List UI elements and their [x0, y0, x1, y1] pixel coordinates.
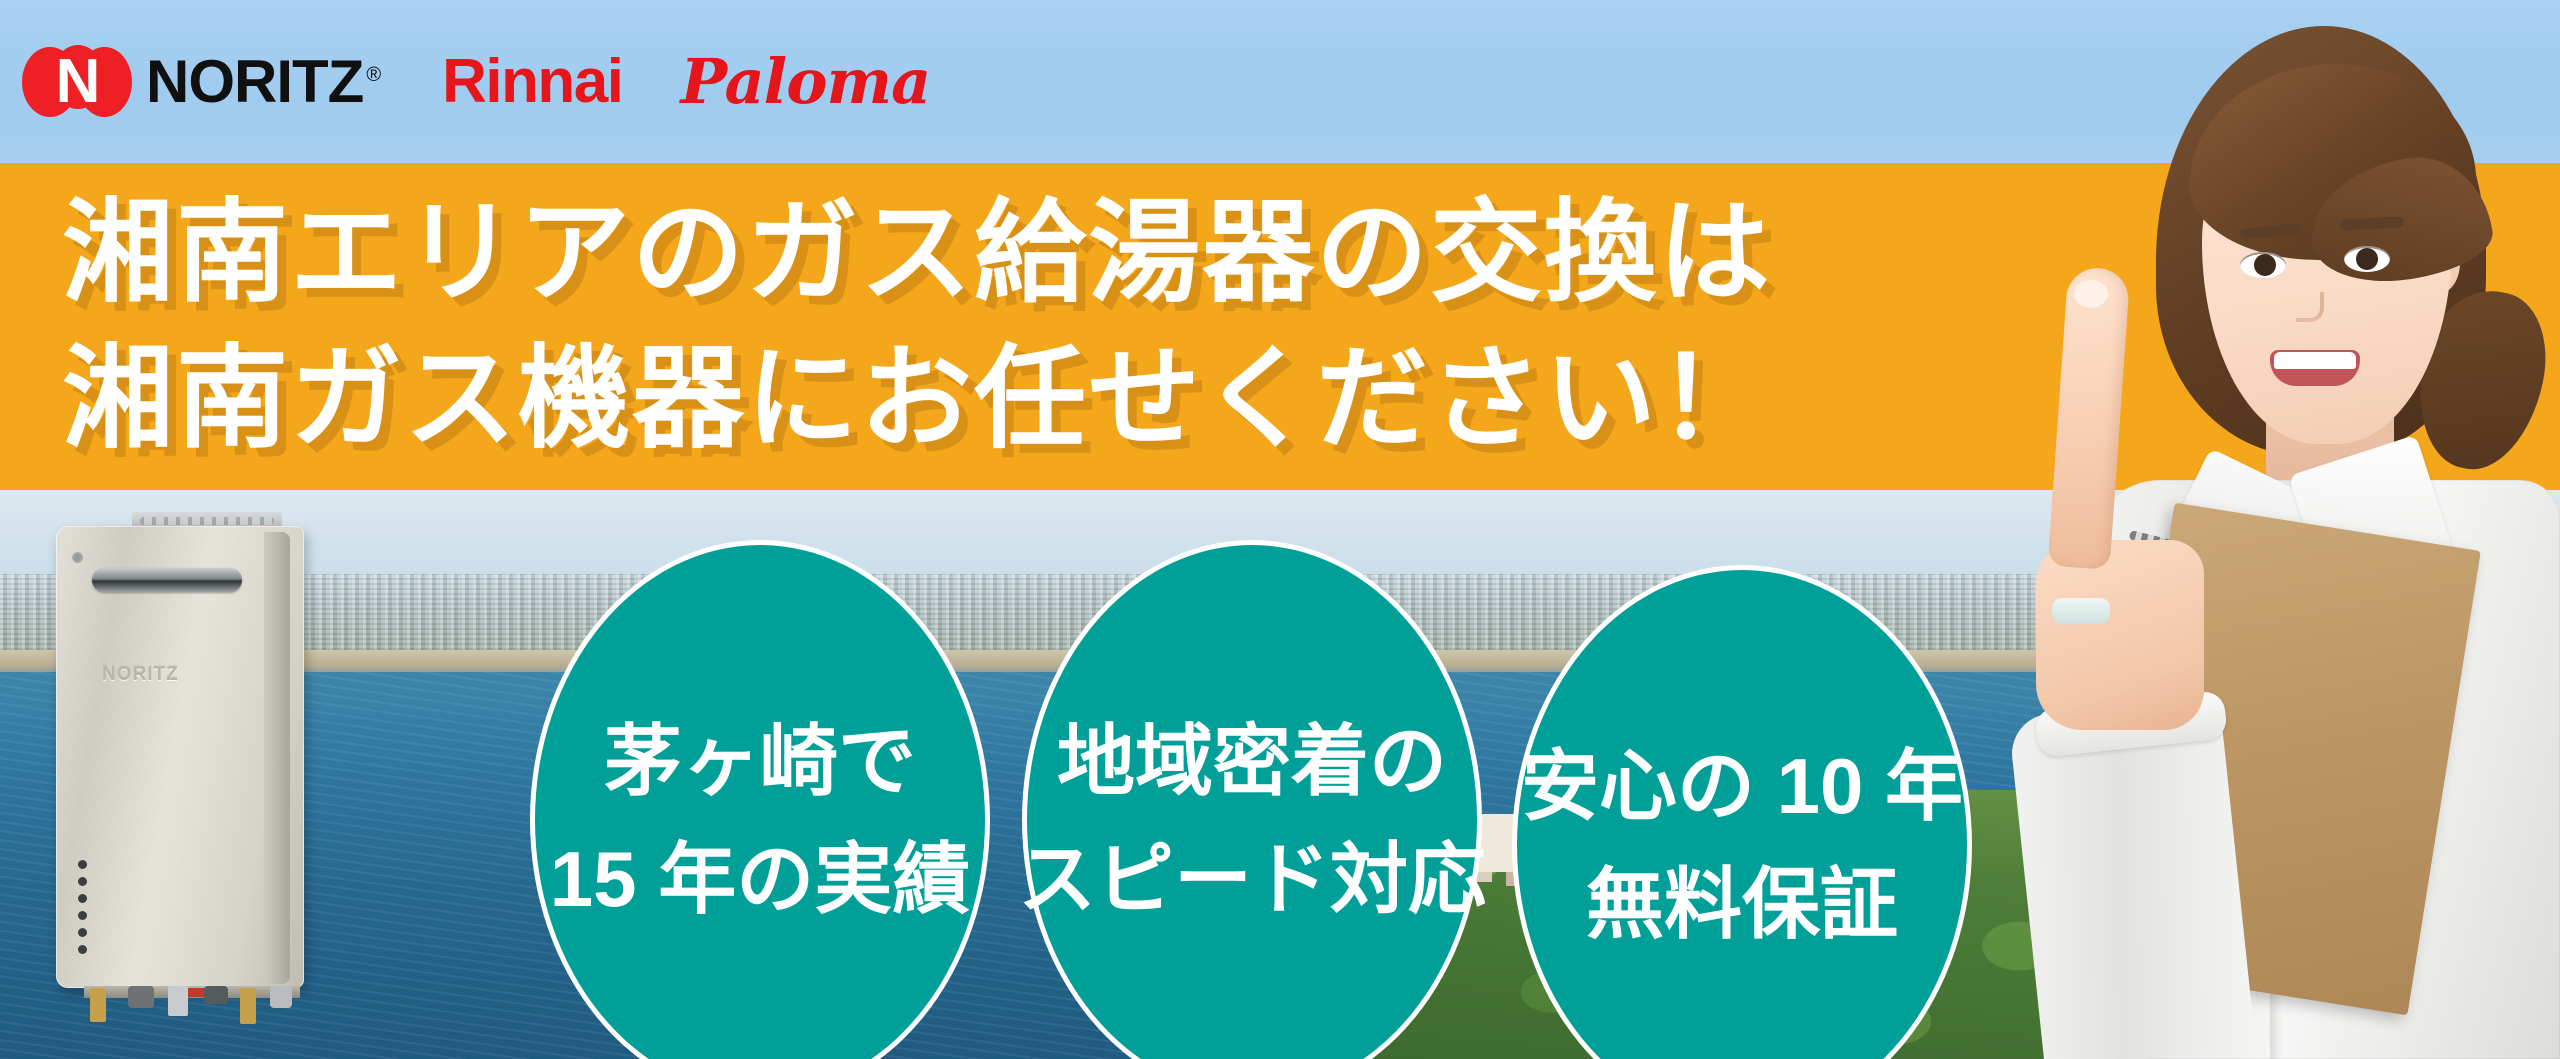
heater-pipe — [168, 986, 188, 1016]
heater-pipe — [204, 986, 228, 1004]
headline-line-1: 湘南エリアのガス給湯器の交換は — [62, 180, 1912, 326]
noritz-water-heater-image: NORITZ — [36, 512, 304, 1032]
heater-pipe — [270, 986, 292, 1008]
nose — [2296, 292, 2324, 322]
feature-line-1: 茅ヶ崎で — [604, 702, 916, 820]
finger-ring — [2052, 598, 2110, 624]
feature-line-1: 安心の 10 年 — [1521, 727, 1963, 845]
feature-line-2: スピード対応 — [1018, 820, 1486, 938]
registered-trademark-icon: ® — [366, 64, 380, 86]
paloma-wordmark: Paloma — [681, 51, 931, 113]
feature-line-2: 無料保証 — [1586, 845, 1898, 963]
headline-line-2: 湘南ガス機器にお任せください！ — [62, 326, 1912, 472]
service-staff-photo — [1940, 0, 2560, 1059]
noritz-wordmark: NORITZ® — [146, 52, 380, 112]
noritz-logo: N NORITZ® — [22, 45, 380, 119]
teeth — [2274, 352, 2356, 369]
heater-screw — [72, 552, 83, 563]
mouth — [2270, 350, 2360, 386]
noritz-mark-letter: N — [22, 45, 132, 119]
heater-pipe — [128, 986, 154, 1008]
heater-vent-slot — [92, 568, 242, 592]
heater-vent-holes — [78, 860, 90, 956]
heater-brand-emboss: NORITZ — [102, 664, 232, 688]
rinnai-wordmark: Rinnai — [442, 51, 622, 113]
brand-logo-row: N NORITZ® Rinnai Paloma — [0, 0, 1500, 163]
index-fingernail — [2074, 280, 2108, 308]
promo-banner: N NORITZ® Rinnai Paloma 湘南エリアのガス給湯器の交換は … — [0, 0, 2560, 1059]
headline-text: 湘南エリアのガス給湯器の交換は 湘南ガス機器にお任せください！ — [62, 180, 1912, 472]
pupil-left — [2254, 254, 2276, 276]
pointing-hand — [2036, 540, 2204, 730]
rinnai-logo: Rinnai — [442, 51, 622, 113]
heater-pipe — [90, 988, 106, 1022]
pupil-right — [2356, 248, 2378, 270]
noritz-wordmark-text: NORITZ — [146, 48, 363, 115]
heater-side-panel — [264, 532, 290, 984]
heater-pipe — [240, 988, 256, 1024]
noritz-butterfly-icon: N — [22, 45, 132, 119]
paloma-logo: Paloma — [681, 51, 931, 113]
feature-line-2: 15 年の実績 — [550, 820, 970, 938]
heater-pipe-assembly — [64, 986, 300, 1032]
feature-line-1: 地域密着の — [1057, 702, 1447, 820]
